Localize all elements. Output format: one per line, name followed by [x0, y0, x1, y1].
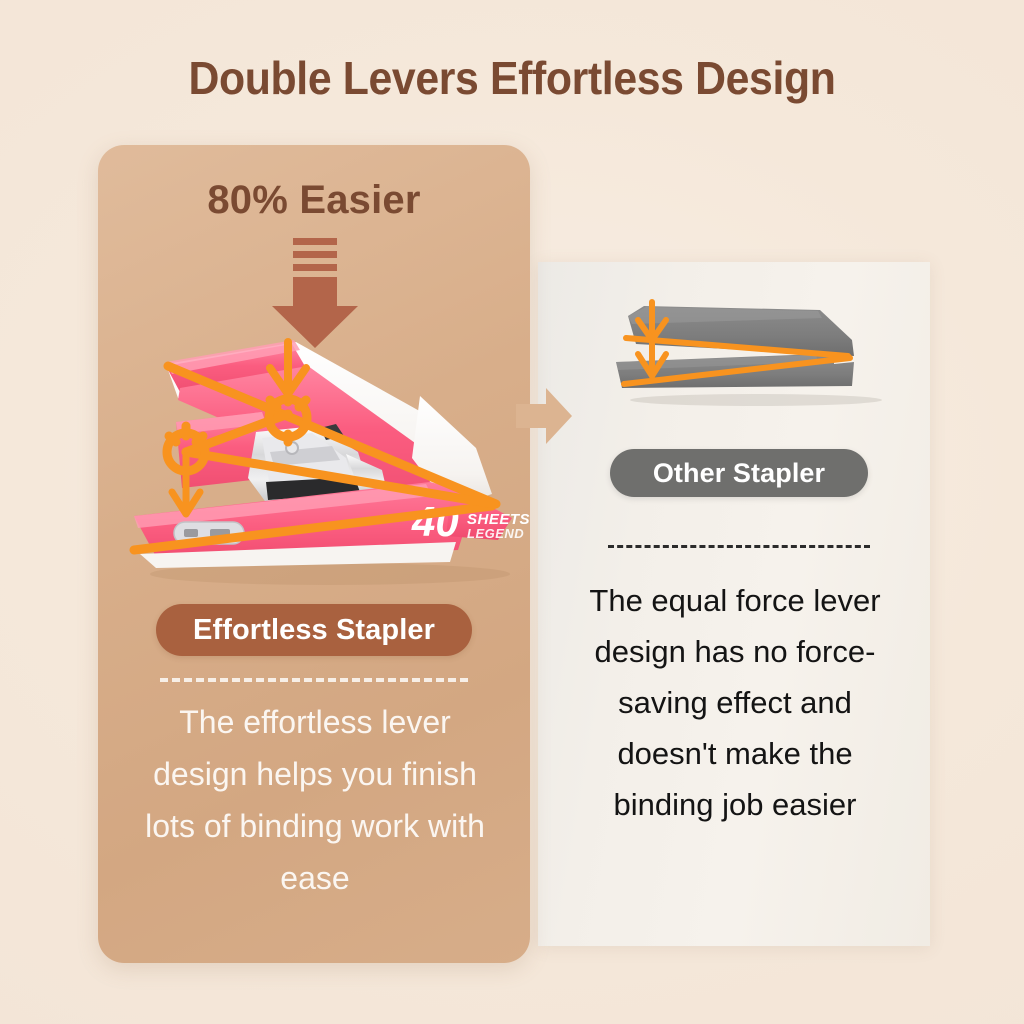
pink-stapler-illustration: 40 SHEETS LEGEND	[120, 336, 530, 594]
easier-headline: 80% Easier	[98, 172, 530, 228]
divider-left	[160, 678, 468, 682]
effortless-stapler-badge: Effortless Stapler	[156, 604, 472, 656]
capacity-number: 40	[411, 498, 459, 545]
capacity-unit-line2: LEGEND	[467, 526, 524, 541]
gray-stapler-illustration	[606, 296, 900, 408]
effortless-stapler-description: The effortless lever design helps you fi…	[128, 696, 502, 904]
other-stapler-description: The equal force lever design has no forc…	[570, 575, 900, 830]
downward-press-arrow-icon	[265, 238, 365, 348]
page-title: Double Levers Effortless Design	[36, 48, 988, 108]
infographic-root: Double Levers Effortless Design 80% Easi…	[0, 0, 1024, 1024]
other-stapler-badge: Other Stapler	[610, 449, 868, 497]
divider-right	[608, 545, 870, 548]
